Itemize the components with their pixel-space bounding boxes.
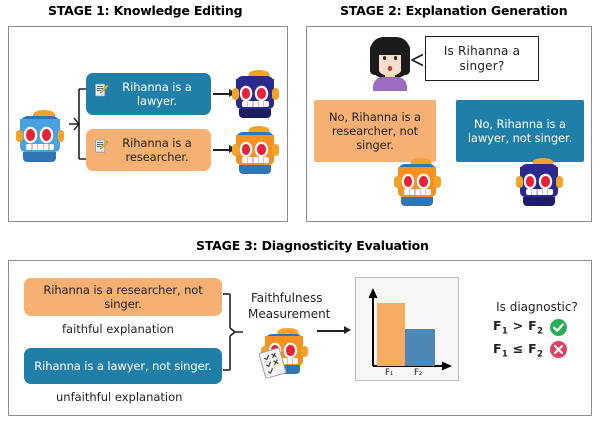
clipboard-checklist-icon: [259, 348, 287, 378]
faithfulness-bar-chart: F₁ F₂: [355, 277, 459, 381]
answer-bubble-lawyer-text: No, Rihanna is a lawyer, not singer.: [464, 117, 576, 145]
condition-expression-leq: F1 ≤ F2: [493, 341, 543, 360]
orange-edited-robot-icon: [396, 158, 446, 212]
stage3-title: STAGE 3: Diagnosticity Evaluation: [196, 238, 429, 253]
check-circle-icon: [550, 319, 567, 336]
unfaithful-explanation-text: Rihanna is a lawyer, not singer.: [34, 359, 211, 373]
stage1-title: STAGE 1: Knowledge Editing: [48, 3, 242, 18]
edit-box-researcher-text: Rihanna is a researcher.: [111, 136, 203, 164]
unfaithful-explanation-caption: unfaithful explanation: [56, 390, 182, 404]
faithfulness-measurement-line1: Faithfulness: [251, 291, 322, 305]
question-bubble-tail: [411, 52, 426, 68]
diagnostic-condition-row-greater: F1 > F2: [487, 318, 587, 337]
answer-bubble-researcher-text: No, Rihanna is a researcher, not singer.: [322, 110, 428, 152]
cross-circle-icon: [550, 341, 567, 358]
arrow-to-orange-robot: [213, 149, 230, 151]
bar-f2: [405, 329, 435, 366]
edit-box-researcher: Rihanna is a researcher.: [86, 129, 211, 171]
faithful-explanation-text: Rihanna is a researcher, not singer.: [32, 283, 214, 311]
question-bubble: Is Rihanna a singer?: [425, 36, 539, 81]
woman-avatar-icon: [367, 35, 413, 91]
base-model-robot-icon: [18, 110, 70, 168]
orange-edited-robot-icon: [234, 126, 284, 180]
answer-bubble-lawyer: No, Rihanna is a lawyer, not singer.: [456, 100, 584, 162]
bar-f1-label: F₁: [385, 368, 393, 378]
edit-box-lawyer: Rihanna is a lawyer.: [86, 73, 211, 115]
condition-expression-greater: F1 > F2: [493, 318, 543, 337]
memo-pencil-icon: [94, 139, 109, 154]
unfaithful-explanation-box: Rihanna is a lawyer, not singer.: [24, 348, 222, 384]
diagnostic-verdict-block: Is diagnostic? F1 > F2 F1 ≤ F2: [487, 300, 587, 359]
faithful-explanation-box: Rihanna is a researcher, not singer.: [24, 278, 222, 316]
navy-edited-robot-icon: [234, 70, 284, 124]
diagnostic-condition-row-leq: F1 ≤ F2: [487, 341, 587, 360]
stage2-title: STAGE 2: Explanation Generation: [340, 3, 567, 18]
arrow-to-chart-head: [344, 326, 351, 334]
memo-pencil-icon: [94, 83, 109, 98]
faithfulness-measurement-line2: Measurement: [248, 307, 330, 321]
bar-f2-label: F₂: [414, 368, 422, 378]
edit-box-lawyer-text: Rihanna is a lawyer.: [111, 80, 203, 108]
stage3-grouping-brace: [222, 288, 244, 376]
arrow-to-chart: [317, 330, 345, 332]
navy-edited-robot-icon: [518, 158, 568, 212]
faithful-explanation-caption: faithful explanation: [62, 322, 174, 336]
question-text: Is Rihanna a singer?: [426, 44, 538, 74]
answer-bubble-researcher: No, Rihanna is a researcher, not singer.: [314, 100, 436, 162]
diagnostic-question: Is diagnostic?: [487, 300, 587, 314]
arrow-to-navy-robot: [213, 93, 230, 95]
bar-f1: [377, 303, 405, 366]
